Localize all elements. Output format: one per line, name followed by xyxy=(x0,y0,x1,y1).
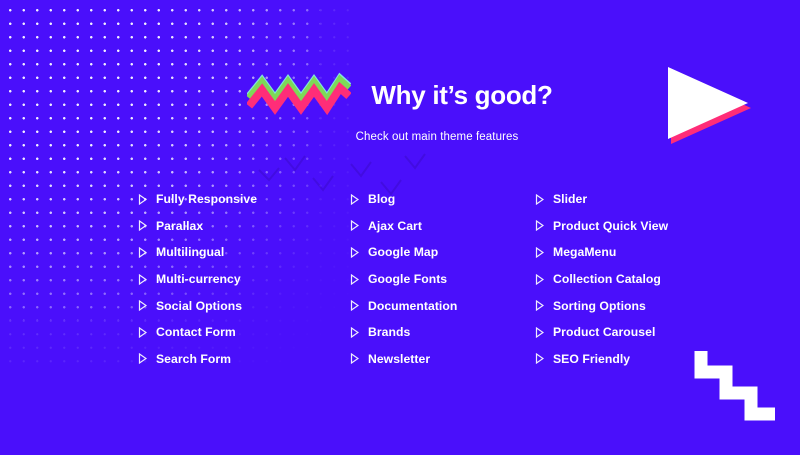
list-item-label: Sorting Options xyxy=(553,300,646,312)
triangle-bullet-icon xyxy=(535,300,544,311)
list-item[interactable]: Social Options xyxy=(138,292,350,319)
list-item[interactable]: SEO Friendly xyxy=(535,346,735,373)
triangle-bullet-icon xyxy=(535,353,544,364)
feature-list-columns: Fully Responsive Parallax Multilingual M… xyxy=(0,186,800,372)
list-item-label: Search Form xyxy=(156,353,231,365)
list-item[interactable]: Contact Form xyxy=(138,319,350,346)
list-item-label: Ajax Cart xyxy=(368,220,422,232)
list-item-label: Google Fonts xyxy=(368,273,447,285)
list-item[interactable]: Product Carousel xyxy=(535,319,735,346)
list-item[interactable]: Multi-currency xyxy=(138,266,350,293)
triangle-bullet-icon xyxy=(138,327,147,338)
list-item[interactable]: MegaMenu xyxy=(535,239,735,266)
list-item[interactable]: Google Fonts xyxy=(350,266,535,293)
triangle-bullet-icon xyxy=(535,274,544,285)
list-item[interactable]: Sorting Options xyxy=(535,292,735,319)
list-item[interactable]: Parallax xyxy=(138,213,350,240)
triangle-bullet-icon xyxy=(535,327,544,338)
header-row: Why it’s good? xyxy=(247,72,552,118)
page-title: Why it’s good? xyxy=(371,82,552,108)
list-item-label: Google Map xyxy=(368,246,438,258)
triangle-bullet-icon xyxy=(535,247,544,258)
play-triangle-icon[interactable] xyxy=(663,62,759,154)
triangle-bullet-icon xyxy=(138,220,147,231)
list-item[interactable]: Google Map xyxy=(350,239,535,266)
list-item-label: Documentation xyxy=(368,300,457,312)
list-item-label: Brands xyxy=(368,326,410,338)
list-item[interactable]: Slider xyxy=(535,186,735,213)
list-item-label: Slider xyxy=(553,193,587,205)
list-item[interactable]: Newsletter xyxy=(350,346,535,373)
list-item-label: MegaMenu xyxy=(553,246,616,258)
triangle-bullet-icon xyxy=(350,300,359,311)
list-item-label: Contact Form xyxy=(156,326,236,338)
triangle-bullet-icon xyxy=(138,300,147,311)
triangle-bullet-icon xyxy=(138,247,147,258)
list-item-label: SEO Friendly xyxy=(553,353,630,365)
triangle-bullet-icon xyxy=(350,247,359,258)
list-item-label: Fully Responsive xyxy=(156,193,257,205)
triangle-bullet-icon xyxy=(350,353,359,364)
list-item[interactable]: Product Quick View xyxy=(535,213,735,240)
triangle-bullet-icon xyxy=(350,274,359,285)
list-item-label: Newsletter xyxy=(368,353,430,365)
slide-canvas: Why it’s good? Check out main theme feat… xyxy=(0,0,800,455)
triangle-bullet-icon xyxy=(535,194,544,205)
feature-column-2: Blog Ajax Cart Google Map Google Fonts D… xyxy=(350,186,535,372)
zigzag-logo xyxy=(247,72,351,118)
triangle-bullet-icon xyxy=(350,327,359,338)
triangle-bullet-icon xyxy=(535,220,544,231)
list-item-label: Multi-currency xyxy=(156,273,241,285)
list-item[interactable]: Ajax Cart xyxy=(350,213,535,240)
triangle-bullet-icon xyxy=(138,274,147,285)
feature-column-1: Fully Responsive Parallax Multilingual M… xyxy=(138,186,350,372)
list-item-label: Parallax xyxy=(156,220,203,232)
list-item-label: Product Quick View xyxy=(553,220,668,232)
list-item[interactable]: Documentation xyxy=(350,292,535,319)
list-item[interactable]: Multilingual xyxy=(138,239,350,266)
list-item[interactable]: Fully Responsive xyxy=(138,186,350,213)
triangle-bullet-icon xyxy=(138,353,147,364)
list-item[interactable]: Blog xyxy=(350,186,535,213)
feature-column-3: Slider Product Quick View MegaMenu Colle… xyxy=(535,186,735,372)
list-item-label: Product Carousel xyxy=(553,326,655,338)
list-item-label: Social Options xyxy=(156,300,242,312)
list-item[interactable]: Brands xyxy=(350,319,535,346)
list-item-label: Blog xyxy=(368,193,395,205)
triangle-bullet-icon xyxy=(350,220,359,231)
list-item[interactable]: Collection Catalog xyxy=(535,266,735,293)
page-subtitle: Check out main theme features xyxy=(356,131,519,143)
list-item-label: Multilingual xyxy=(156,246,224,258)
list-item[interactable]: Search Form xyxy=(138,346,350,373)
triangle-bullet-icon xyxy=(138,194,147,205)
triangle-bullet-icon xyxy=(350,194,359,205)
list-item-label: Collection Catalog xyxy=(553,273,661,285)
